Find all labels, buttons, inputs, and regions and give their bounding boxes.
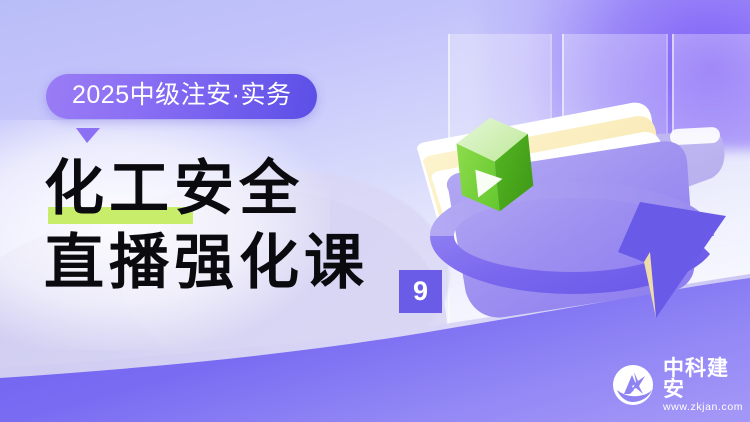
- title-line-2: 直播强化课: [44, 233, 369, 293]
- episode-badge: 9: [399, 270, 442, 313]
- course-tag-label: 2025中级注安·实务: [72, 83, 291, 108]
- brand-name: 中科建安: [663, 358, 750, 400]
- brand-logo[interactable]: 中科建安 www.zkjan.com: [612, 358, 750, 413]
- logo-text-block: 中科建安 www.zkjan.com: [663, 358, 750, 413]
- course-tag-pill: 2025中级注安·实务: [46, 74, 317, 119]
- title-line-1-row: 化工安全: [44, 152, 464, 226]
- tag-pill-tail: [76, 128, 100, 143]
- mountain-arrow-circle-icon: [612, 364, 654, 406]
- brand-url: www.zkjan.com: [663, 402, 750, 413]
- episode-number: 9: [413, 278, 428, 305]
- title-line-1: 化工安全: [44, 159, 304, 219]
- course-banner: 2025中级注安·实务 化工安全 直播强化课 9 中科建安 www.zkjan.…: [0, 0, 750, 422]
